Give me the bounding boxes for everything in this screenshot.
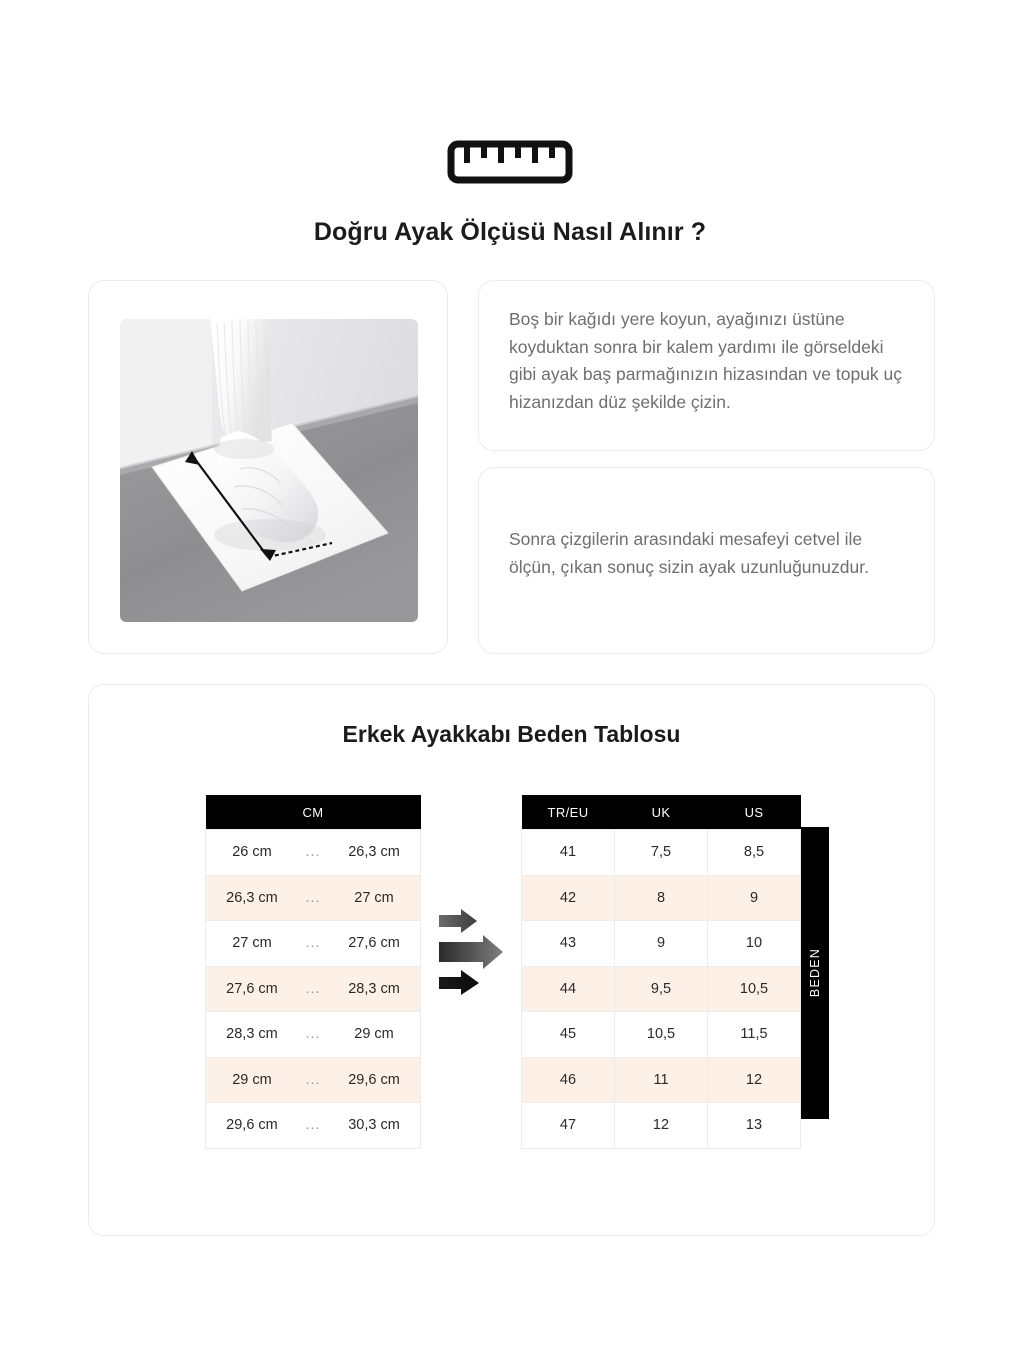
ruler-icon	[447, 140, 573, 184]
us-cell: 8,5	[708, 830, 801, 876]
table-row: 26 cm...26,3 cm	[206, 830, 421, 876]
cm-range-dots: ...	[298, 966, 328, 1012]
cm-table-header-row: CM	[206, 795, 421, 830]
table-row: 461112	[522, 1057, 801, 1103]
cm-to-cell: 28,3 cm	[328, 966, 420, 1012]
us-cell: 12	[708, 1057, 801, 1103]
cm-range-dots: ...	[298, 921, 328, 967]
table-row: 417,58,5	[522, 830, 801, 876]
uk-cell: 8	[615, 875, 708, 921]
cm-range-dots: ...	[298, 1057, 328, 1103]
instruction-card-2: Sonra çizgilerin arasındaki mesafeyi cet…	[478, 467, 935, 654]
cm-from-cell: 26,3 cm	[206, 875, 298, 921]
cm-to-cell: 29 cm	[328, 1012, 420, 1058]
arrow-icon-1	[439, 909, 477, 933]
table-row: 449,510,5	[522, 966, 801, 1012]
tr-eu-cell: 42	[522, 875, 615, 921]
conversion-arrows	[437, 907, 521, 997]
foot-measurement-photo	[120, 319, 418, 622]
size-chart-card: Erkek Ayakkabı Beden Tablosu CM 26 cm...…	[88, 684, 935, 1236]
table-row: 471213	[522, 1103, 801, 1149]
tr-eu-cell: 47	[522, 1103, 615, 1149]
uk-cell: 10,5	[615, 1012, 708, 1058]
cm-range-dots: ...	[298, 1103, 328, 1149]
arrow-icon-3	[439, 970, 479, 995]
table-row: 4289	[522, 875, 801, 921]
cm-to-cell: 27,6 cm	[328, 921, 420, 967]
table-row: 27,6 cm...28,3 cm	[206, 966, 421, 1012]
table-row: 29,6 cm...30,3 cm	[206, 1103, 421, 1149]
cm-from-cell: 28,3 cm	[206, 1012, 298, 1058]
cm-range-dots: ...	[298, 1012, 328, 1058]
table-row: 26,3 cm...27 cm	[206, 875, 421, 921]
uk-cell: 9,5	[615, 966, 708, 1012]
cm-from-cell: 29 cm	[206, 1057, 298, 1103]
us-cell: 10,5	[708, 966, 801, 1012]
instruction-text-1: Boş bir kağıdı yere koyun, ayağınızı üst…	[509, 306, 908, 416]
cm-from-cell: 27 cm	[206, 921, 298, 967]
instruction-text-2: Sonra çizgilerin arasındaki mesafeyi cet…	[509, 526, 908, 581]
page-title: Doğru Ayak Ölçüsü Nasıl Alınır ?	[0, 218, 1020, 247]
uk-cell: 11	[615, 1057, 708, 1103]
beden-side-label: BEDEN	[808, 948, 822, 997]
us-cell: 11,5	[708, 1012, 801, 1058]
arrow-icon-2	[439, 935, 503, 969]
table-row: 4510,511,5	[522, 1012, 801, 1058]
cm-range-dots: ...	[298, 875, 328, 921]
cm-range-dots: ...	[298, 830, 328, 876]
size-conversion-table: TR/EUUKUS 417,58,5428943910449,510,54510…	[521, 795, 801, 1149]
ruler-icon-wrapper	[0, 140, 1020, 184]
tr-eu-cell: 44	[522, 966, 615, 1012]
cm-to-cell: 29,6 cm	[328, 1057, 420, 1103]
uk-cell: 9	[615, 921, 708, 967]
table-row: 29 cm...29,6 cm	[206, 1057, 421, 1103]
us-cell: 13	[708, 1103, 801, 1149]
tr-eu-cell: 45	[522, 1012, 615, 1058]
size-table-header-row: TR/EUUKUS	[522, 795, 801, 830]
cm-to-cell: 30,3 cm	[328, 1103, 420, 1149]
tr-eu-cell: 41	[522, 830, 615, 876]
tr-eu-cell: 43	[522, 921, 615, 967]
tr-eu-cell: 46	[522, 1057, 615, 1103]
table-row: 28,3 cm...29 cm	[206, 1012, 421, 1058]
uk-cell: 12	[615, 1103, 708, 1149]
size-table-header-tr-eu: TR/EU	[522, 795, 615, 830]
table-row: 27 cm...27,6 cm	[206, 921, 421, 967]
us-cell: 10	[708, 921, 801, 967]
size-table-header-us: US	[708, 795, 801, 830]
size-chart-title: Erkek Ayakkabı Beden Tablosu	[89, 721, 934, 748]
us-cell: 9	[708, 875, 801, 921]
cm-from-cell: 26 cm	[206, 830, 298, 876]
uk-cell: 7,5	[615, 830, 708, 876]
cm-table-header: CM	[206, 795, 421, 830]
cm-from-cell: 27,6 cm	[206, 966, 298, 1012]
beden-side-bar: BEDEN	[801, 827, 829, 1119]
cm-to-cell: 27 cm	[328, 875, 420, 921]
foot-photo-card	[88, 280, 448, 654]
cm-range-table: CM 26 cm...26,3 cm26,3 cm...27 cm27 cm..…	[205, 795, 421, 1149]
size-table-header-uk: UK	[615, 795, 708, 830]
table-row: 43910	[522, 921, 801, 967]
cm-from-cell: 29,6 cm	[206, 1103, 298, 1149]
instruction-card-1: Boş bir kağıdı yere koyun, ayağınızı üst…	[478, 280, 935, 451]
cm-to-cell: 26,3 cm	[328, 830, 420, 876]
